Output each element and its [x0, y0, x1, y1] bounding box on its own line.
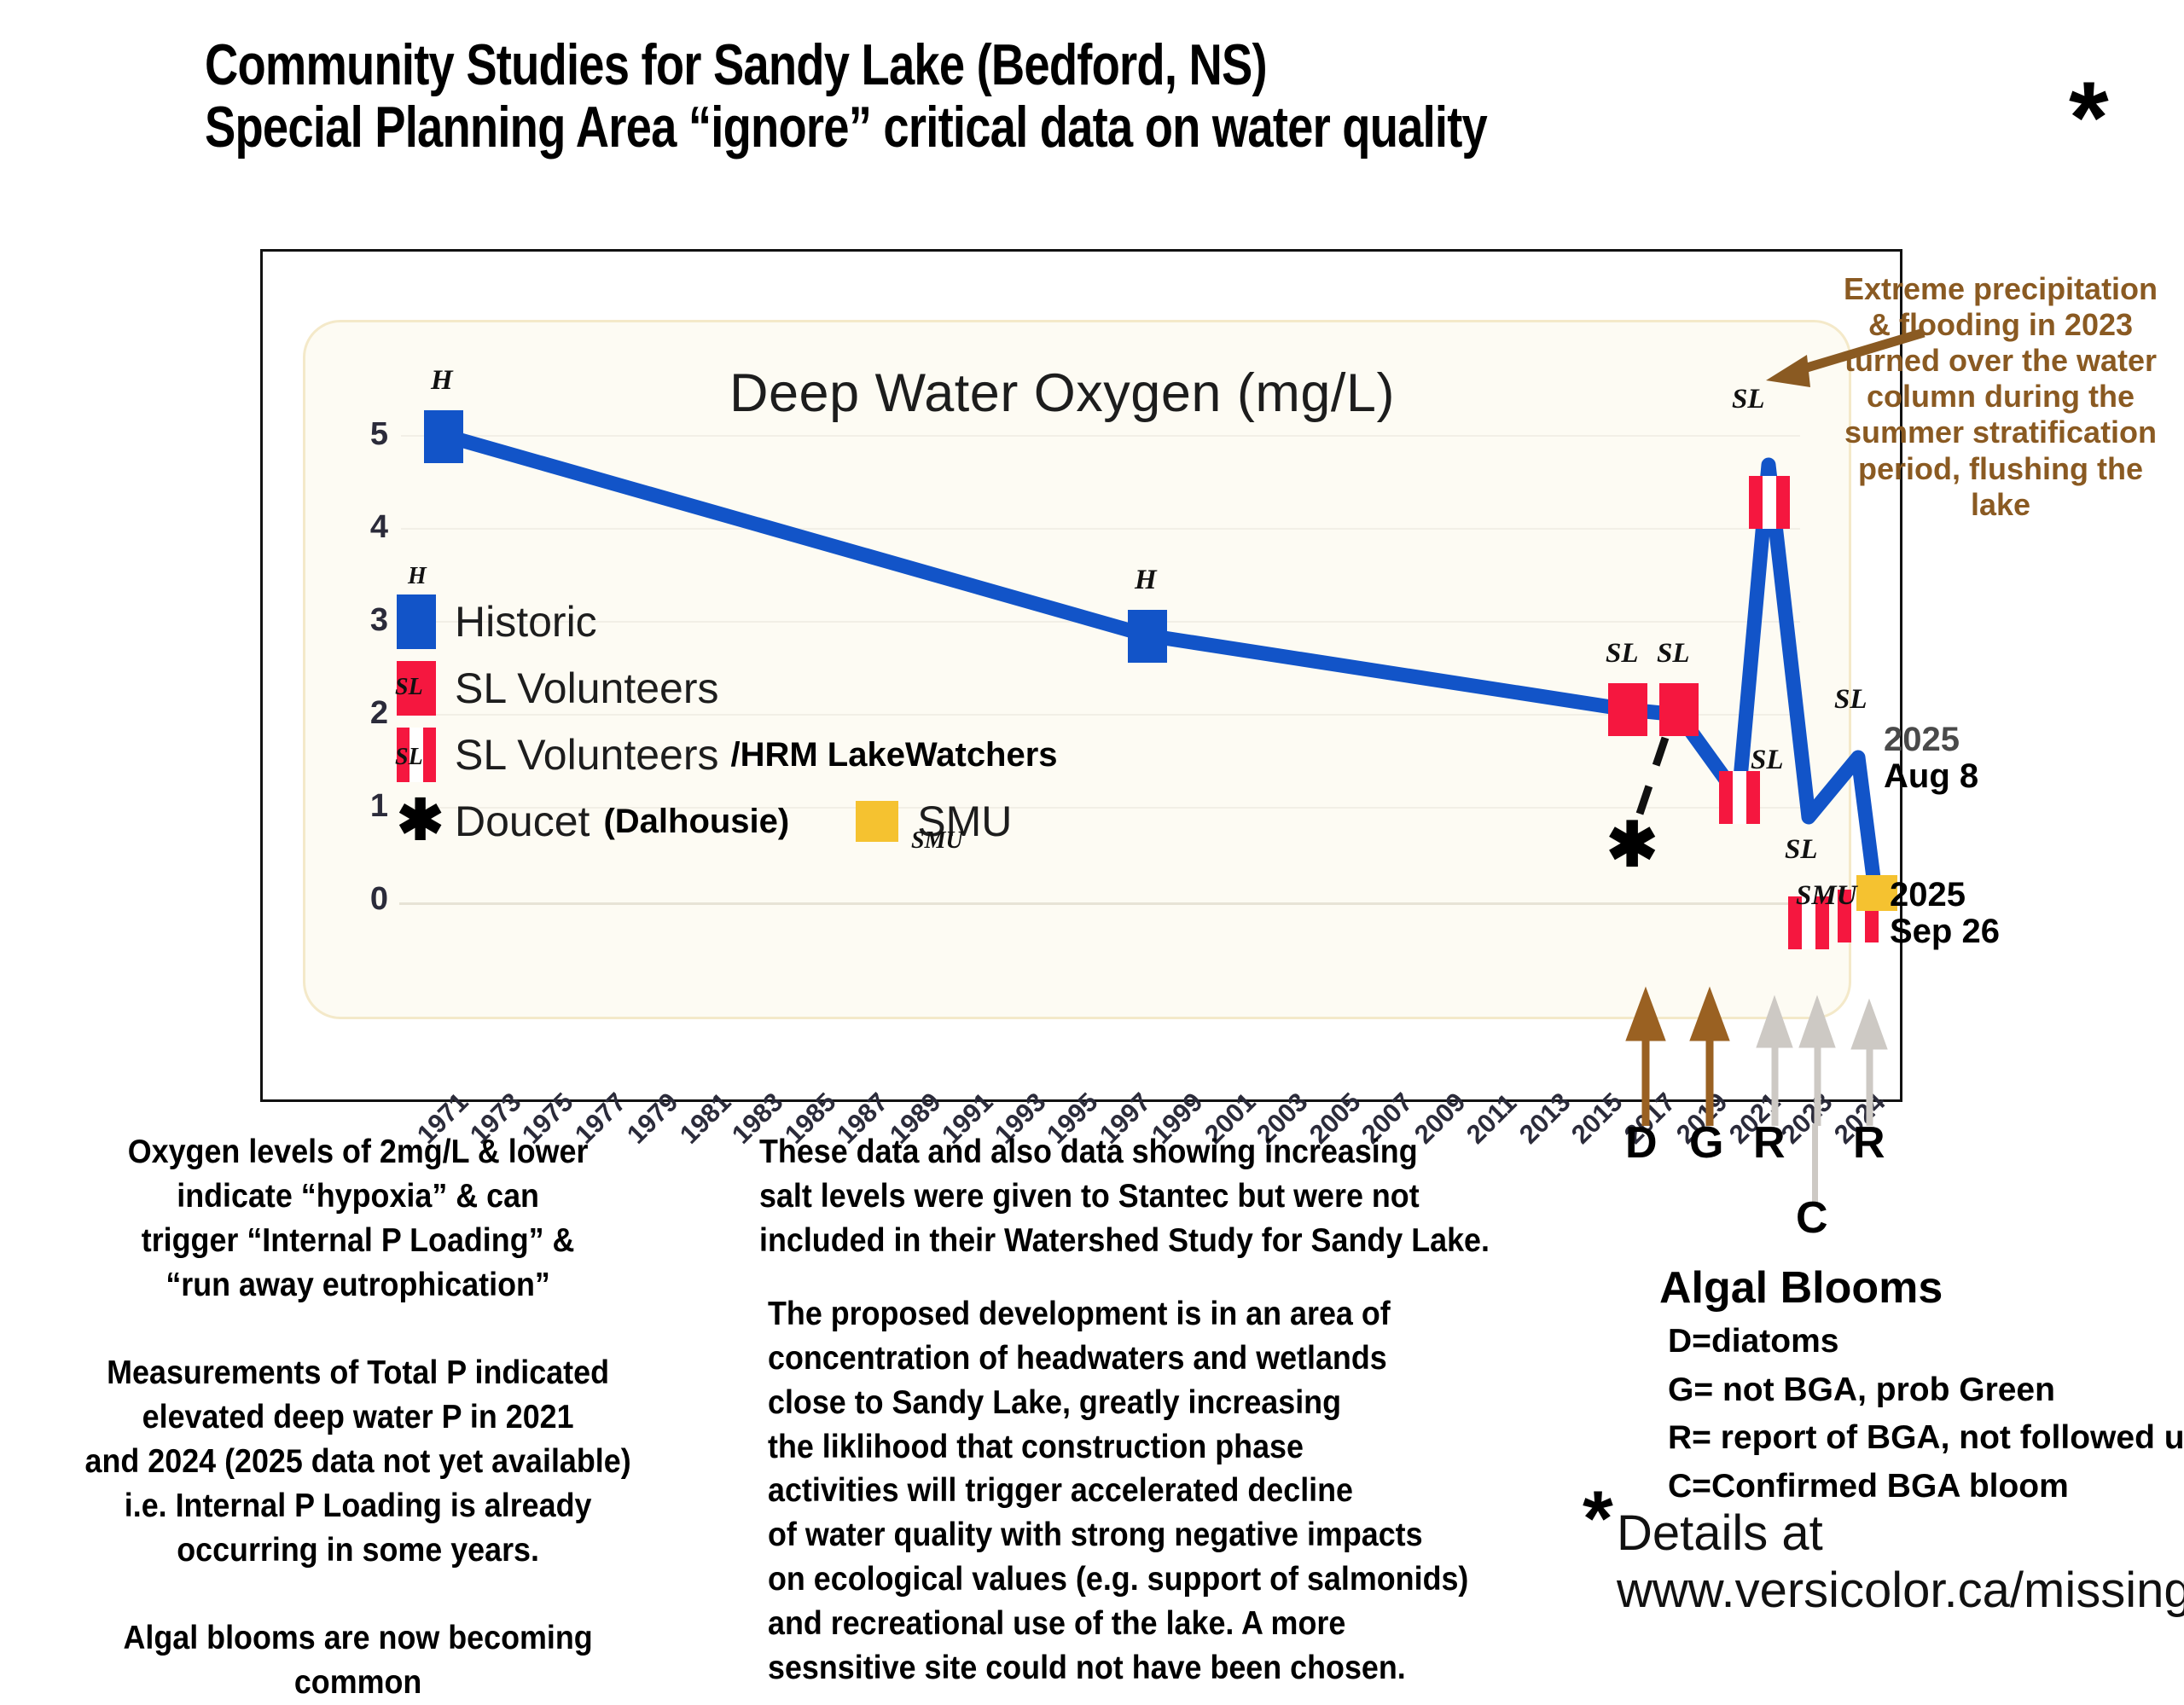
bloom-letter-g: G [1689, 1117, 1723, 1169]
title-line-2: Special Planning Area “ignore” critical … [205, 96, 1774, 159]
legend-label-historic: Historic [455, 597, 597, 647]
bloom-letter-d: D [1625, 1117, 1658, 1169]
annotation-2025-sep-date: Sep 26 [1890, 913, 2000, 951]
bloom-letter-c: C [1796, 1192, 1828, 1244]
details-block: Details at www.versicolor.ca/missing [1617, 1505, 2184, 1619]
algal-key-item-2: R= report of BGA, not followed up [1668, 1414, 2184, 1463]
marker-lakewatchers-2023 [1749, 476, 1790, 529]
annotation-2025-sep-year: 2025 [1890, 876, 1966, 914]
details-asterisk: * [1583, 1480, 1613, 1558]
note-oxygen-levels: Oxygen levels of 2mg/L & lower indicate … [60, 1130, 656, 1705]
marker-label-2025-aug: SL [1834, 684, 1867, 716]
y-tick-3: 3 [346, 602, 388, 639]
marker-slvolunteers-2019 [1659, 683, 1699, 736]
marker-label-2021: SL [1751, 745, 1784, 776]
legend-label-lakewatchers: SL Volunteers [455, 730, 718, 780]
chart-title: Deep Water Oxygen (mg/L) [729, 362, 1395, 424]
algal-blooms-key: D=diatomsG= not BGA, prob Green R= repor… [1668, 1318, 2184, 1511]
gridline-5 [401, 435, 1800, 437]
bloom-letter-r2: R [1853, 1117, 1885, 1169]
note-proposed-development: The proposed development is in an area o… [768, 1292, 1521, 1691]
marker-historic-1971 [424, 410, 463, 463]
y-tick-0: 0 [346, 881, 388, 918]
marker-label-smu: SMU [1796, 880, 1857, 912]
legend-item-historic: Historic [397, 589, 1058, 655]
marker-label-1971: H [431, 365, 453, 397]
marker-label-2019: SL [1657, 638, 1690, 670]
legend-sup-sl-volunteers: SL [395, 674, 423, 701]
legend-sup-smu: SMU [911, 827, 963, 855]
algal-key-item-1: G= not BGA, prob Green [1668, 1366, 2184, 1415]
gridline-4 [401, 528, 1800, 530]
title-footnote-asterisk: * [2069, 67, 2109, 169]
marker-doucet-asterisk: ✱ [1606, 815, 1658, 876]
page-title: Community Studies for Sandy Lake (Bedfor… [205, 34, 1774, 159]
y-tick-4: 4 [346, 509, 388, 546]
note-stantec-data: These data and also data showing increas… [759, 1130, 1497, 1263]
bloom-letter-r1: R [1753, 1117, 1786, 1169]
x-axis-line [399, 902, 1807, 905]
annotation-2025-aug-year: 2025 [1884, 721, 1960, 759]
legend-item-sl-volunteers: SL Volunteers [397, 655, 1058, 722]
legend-label-sl-volunteers: SL Volunteers [455, 664, 718, 713]
legend-label-doucet: Doucet [455, 797, 590, 846]
details-line-1: Details at [1617, 1505, 2184, 1563]
legend-swatch-historic [397, 594, 436, 649]
legend-item-lakewatchers: SL Volunteers /HRM LakeWatchers [397, 722, 1058, 788]
algal-blooms-title: Algal Blooms [1659, 1262, 1943, 1314]
legend-sup-historic: H [408, 563, 427, 590]
marker-label-1999: H [1135, 565, 1157, 596]
legend-swatch-doucet-asterisk: ✱ [397, 794, 436, 849]
legend-label-lakewatchers-extra: /HRM LakeWatchers [730, 736, 1057, 774]
algal-key-item-0: D=diatoms [1668, 1318, 2184, 1366]
marker-historic-1999 [1128, 610, 1167, 663]
marker-label-2024: SL [1785, 834, 1818, 866]
bloom-arrows-group-icon [1612, 981, 1971, 1126]
title-line-1: Community Studies for Sandy Lake (Bedfor… [205, 34, 1774, 96]
algal-key-item-3: C=Confirmed BGA bloom [1668, 1463, 2184, 1511]
legend-label-doucet-extra: (Dalhousie) [603, 803, 789, 841]
marker-label-2017: SL [1606, 638, 1639, 670]
legend-swatch-smu [856, 801, 898, 842]
chart-legend: Historic SL Volunteers SL Volunteers /HR… [397, 589, 1058, 855]
y-tick-5: 5 [346, 416, 388, 453]
legend-sup-lakewatchers: SL [395, 744, 423, 771]
details-link[interactable]: www.versicolor.ca/missing [1617, 1563, 2184, 1620]
y-tick-1: 1 [346, 788, 388, 825]
marker-slvolunteers-2017 [1608, 683, 1647, 736]
precipitation-arrow-icon [1757, 324, 1928, 426]
annotation-2025-aug-date: Aug 8 [1884, 757, 1978, 796]
y-tick-2: 2 [346, 695, 388, 732]
marker-lakewatchers-2021 [1719, 771, 1760, 824]
